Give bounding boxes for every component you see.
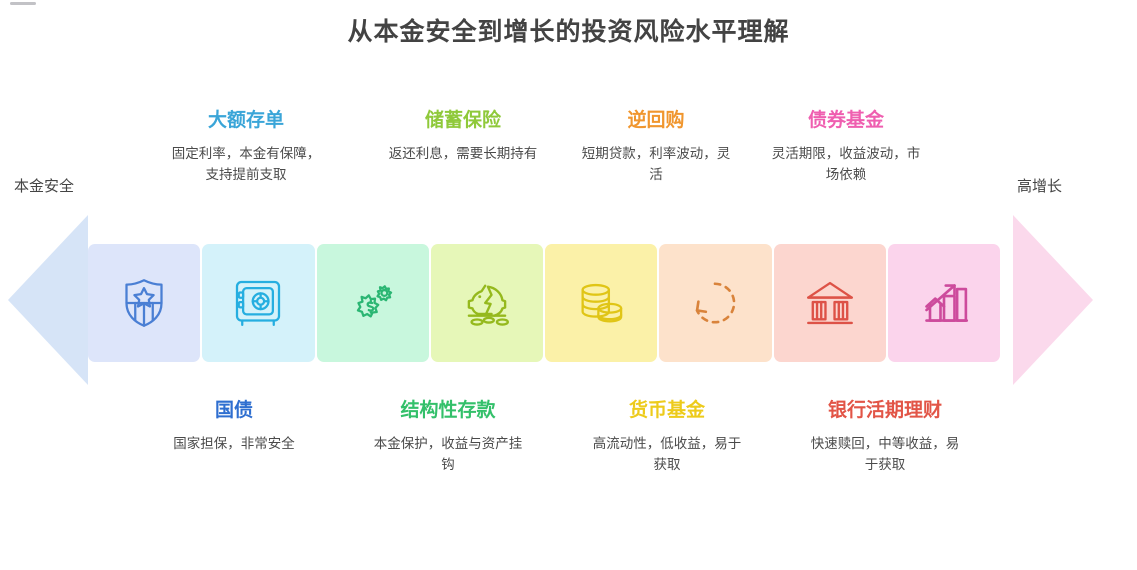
bank-building-icon (801, 274, 859, 332)
callout-name: 储蓄保险 (368, 110, 558, 131)
scrollbar-nub (10, 2, 36, 5)
tile-safe-vault[interactable] (202, 244, 314, 362)
callout-desc: 短期贷款，利率波动，灵活 (561, 144, 751, 186)
tile-circular-arrow[interactable] (659, 244, 771, 362)
callout-name: 债券基金 (751, 110, 941, 131)
gears-dollar-icon (345, 275, 401, 331)
callout-top-3: 债券基金 灵活期限，收益波动，市场依赖 (751, 110, 941, 186)
callout-bottom-0: 国债 国家担保，非常安全 (139, 400, 329, 455)
broken-piggy-bank-icon (458, 274, 516, 332)
callout-desc: 高流动性，低收益，易于获取 (572, 434, 762, 476)
callout-bottom-1: 结构性存款 本金保护，收益与资产挂钩 (353, 400, 543, 476)
callout-name: 逆回购 (561, 110, 751, 131)
tile-shield-star[interactable] (88, 244, 200, 362)
callout-top-2: 逆回购 短期贷款，利率波动，灵活 (561, 110, 751, 186)
circular-arrow-icon (687, 275, 743, 331)
growth-chart-icon (916, 275, 972, 331)
tile-growth-chart[interactable] (888, 244, 1000, 362)
tile-coin-stack[interactable] (545, 244, 657, 362)
callout-name: 国债 (139, 400, 329, 421)
callout-name: 结构性存款 (353, 400, 543, 421)
right-arrow (1013, 215, 1093, 385)
coin-stack-icon (573, 275, 629, 331)
axis-label-right: 高增长 (1017, 175, 1062, 196)
callout-name: 银行活期理财 (790, 400, 980, 421)
callout-desc: 灵活期限，收益波动，市场依赖 (751, 144, 941, 186)
callout-desc: 国家担保，非常安全 (139, 434, 329, 455)
tile-gears-dollar[interactable] (317, 244, 429, 362)
callout-name: 大额存单 (151, 110, 341, 131)
callout-desc: 固定利率，本金有保障，支持提前支取 (151, 144, 341, 186)
callout-desc: 返还利息，需要长期持有 (368, 144, 558, 165)
callout-name: 货币基金 (572, 400, 762, 421)
left-arrow (8, 215, 88, 385)
shield-star-icon (116, 275, 172, 331)
axis-label-left: 本金安全 (14, 175, 74, 196)
callout-top-1: 储蓄保险 返还利息，需要长期持有 (368, 110, 558, 165)
tile-broken-piggy-bank[interactable] (431, 244, 543, 362)
tile-bank-building[interactable] (774, 244, 886, 362)
callout-desc: 快速赎回，中等收益，易于获取 (790, 434, 980, 476)
callout-bottom-2: 货币基金 高流动性，低收益，易于获取 (572, 400, 762, 476)
page-title: 从本金安全到增长的投资风险水平理解 (0, 12, 1137, 48)
callout-desc: 本金保护，收益与资产挂钩 (353, 434, 543, 476)
callout-bottom-3: 银行活期理财 快速赎回，中等收益，易于获取 (790, 400, 980, 476)
risk-spectrum-strip (88, 244, 1000, 362)
callout-top-0: 大额存单 固定利率，本金有保障，支持提前支取 (151, 110, 341, 186)
safe-vault-icon (230, 275, 286, 331)
